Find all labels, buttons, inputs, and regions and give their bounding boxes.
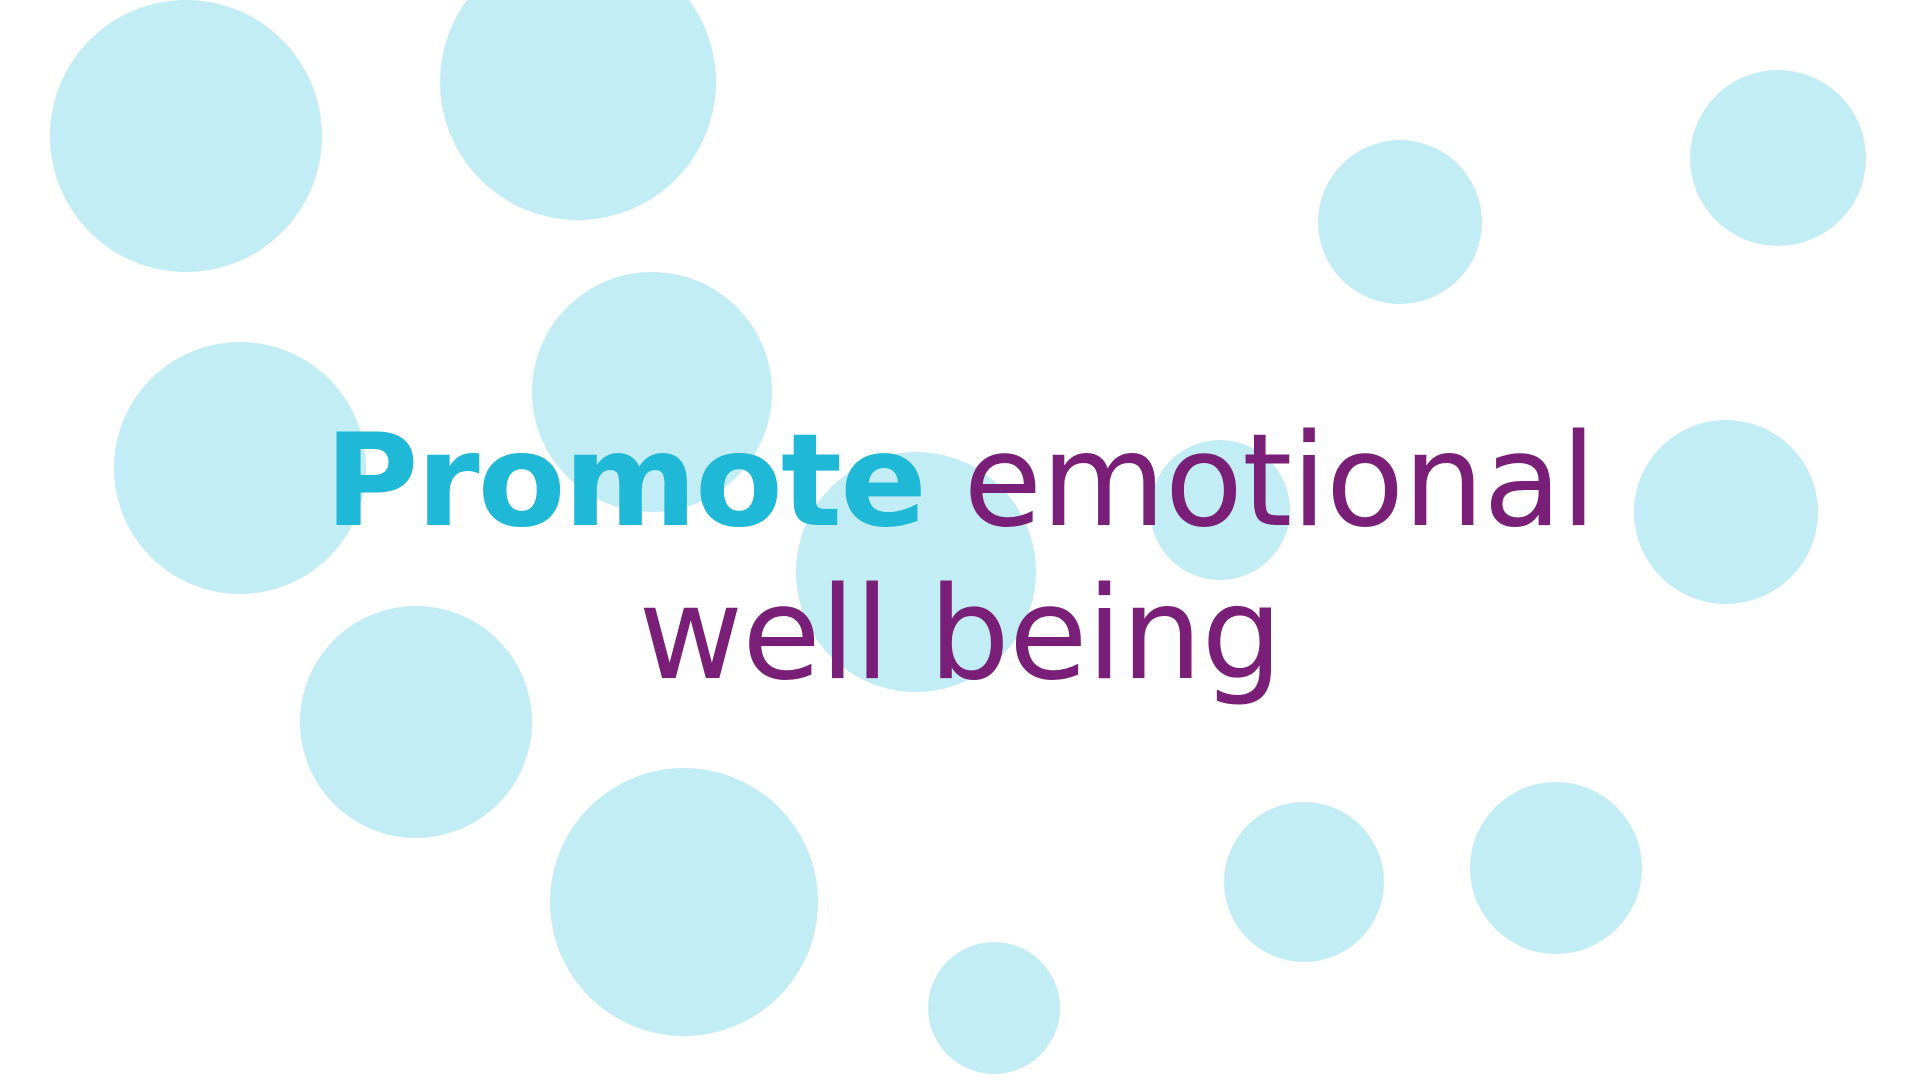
headline-block: Promoteemotional well being (0, 0, 1920, 1080)
headline-line-1: Promoteemotional (325, 403, 1596, 562)
headline-line-2: well being (638, 556, 1281, 715)
headline-emphasis-word: Promote (325, 407, 925, 556)
slide-canvas: Promoteemotional well being (0, 0, 1920, 1080)
headline-line-1-rest: emotional (963, 407, 1595, 556)
